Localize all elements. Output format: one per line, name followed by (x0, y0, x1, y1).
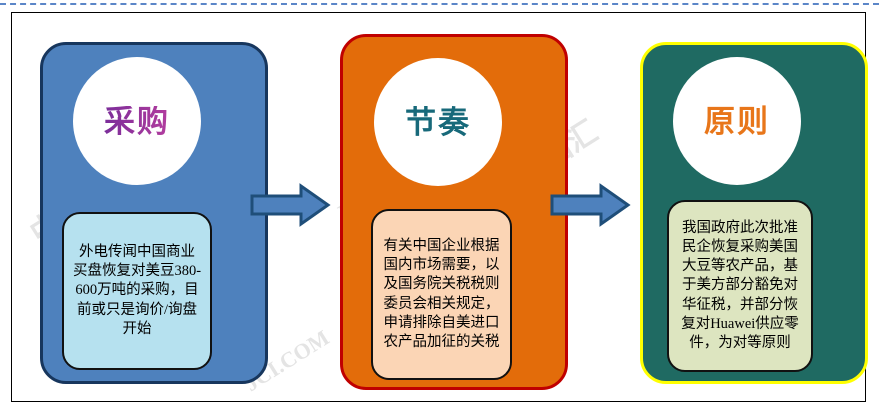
stage-textbox-2[interactable]: 有关中国企业根据国内市场需要，以及国务院关税税则委员会相关规定，申请排除自美进口… (371, 209, 512, 380)
stage-textbox-1[interactable]: 外电传闻中国商业买盘恢复对美豆380-600万吨的采购，目前或只是询价/询盘开始 (62, 212, 212, 370)
stage-circle-2: 节奏 (374, 58, 502, 186)
flow-arrow-icon-2 (549, 182, 631, 228)
stage-circle-label-1: 采购 (104, 106, 170, 137)
flow-arrow-icon-1 (249, 182, 331, 228)
stage-body-text-2: 有关中国企业根据国内市场需要，以及国务院关税税则委员会相关规定，申请排除自美进口… (381, 237, 502, 353)
stage-circle-1: 采购 (73, 57, 201, 185)
top-dashed-rule (0, 3, 879, 5)
stage-circle-label-2: 节奏 (405, 107, 471, 138)
diagram-canvas: ❯ ❯ ❯ ❯ ❯ ❯ 中国汇 JCI.COM JCI.COM 中国汇 JCI.… (0, 0, 879, 414)
stage-circle-3: 原则 (673, 57, 801, 185)
stage-body-text-1: 外电传闻中国商业买盘恢复对美豆380-600万吨的采购，目前或只是询价/询盘开始 (72, 243, 202, 339)
stage-body-text-3: 我国政府此次批准民企恢复采购美国大豆等农产品，基于美方部分豁免对华征税，并部分恢… (677, 219, 803, 354)
stage-textbox-3[interactable]: 我国政府此次批准民企恢复采购美国大豆等农产品，基于美方部分豁免对华征税，并部分恢… (667, 200, 813, 372)
stage-circle-label-3: 原则 (704, 106, 770, 137)
